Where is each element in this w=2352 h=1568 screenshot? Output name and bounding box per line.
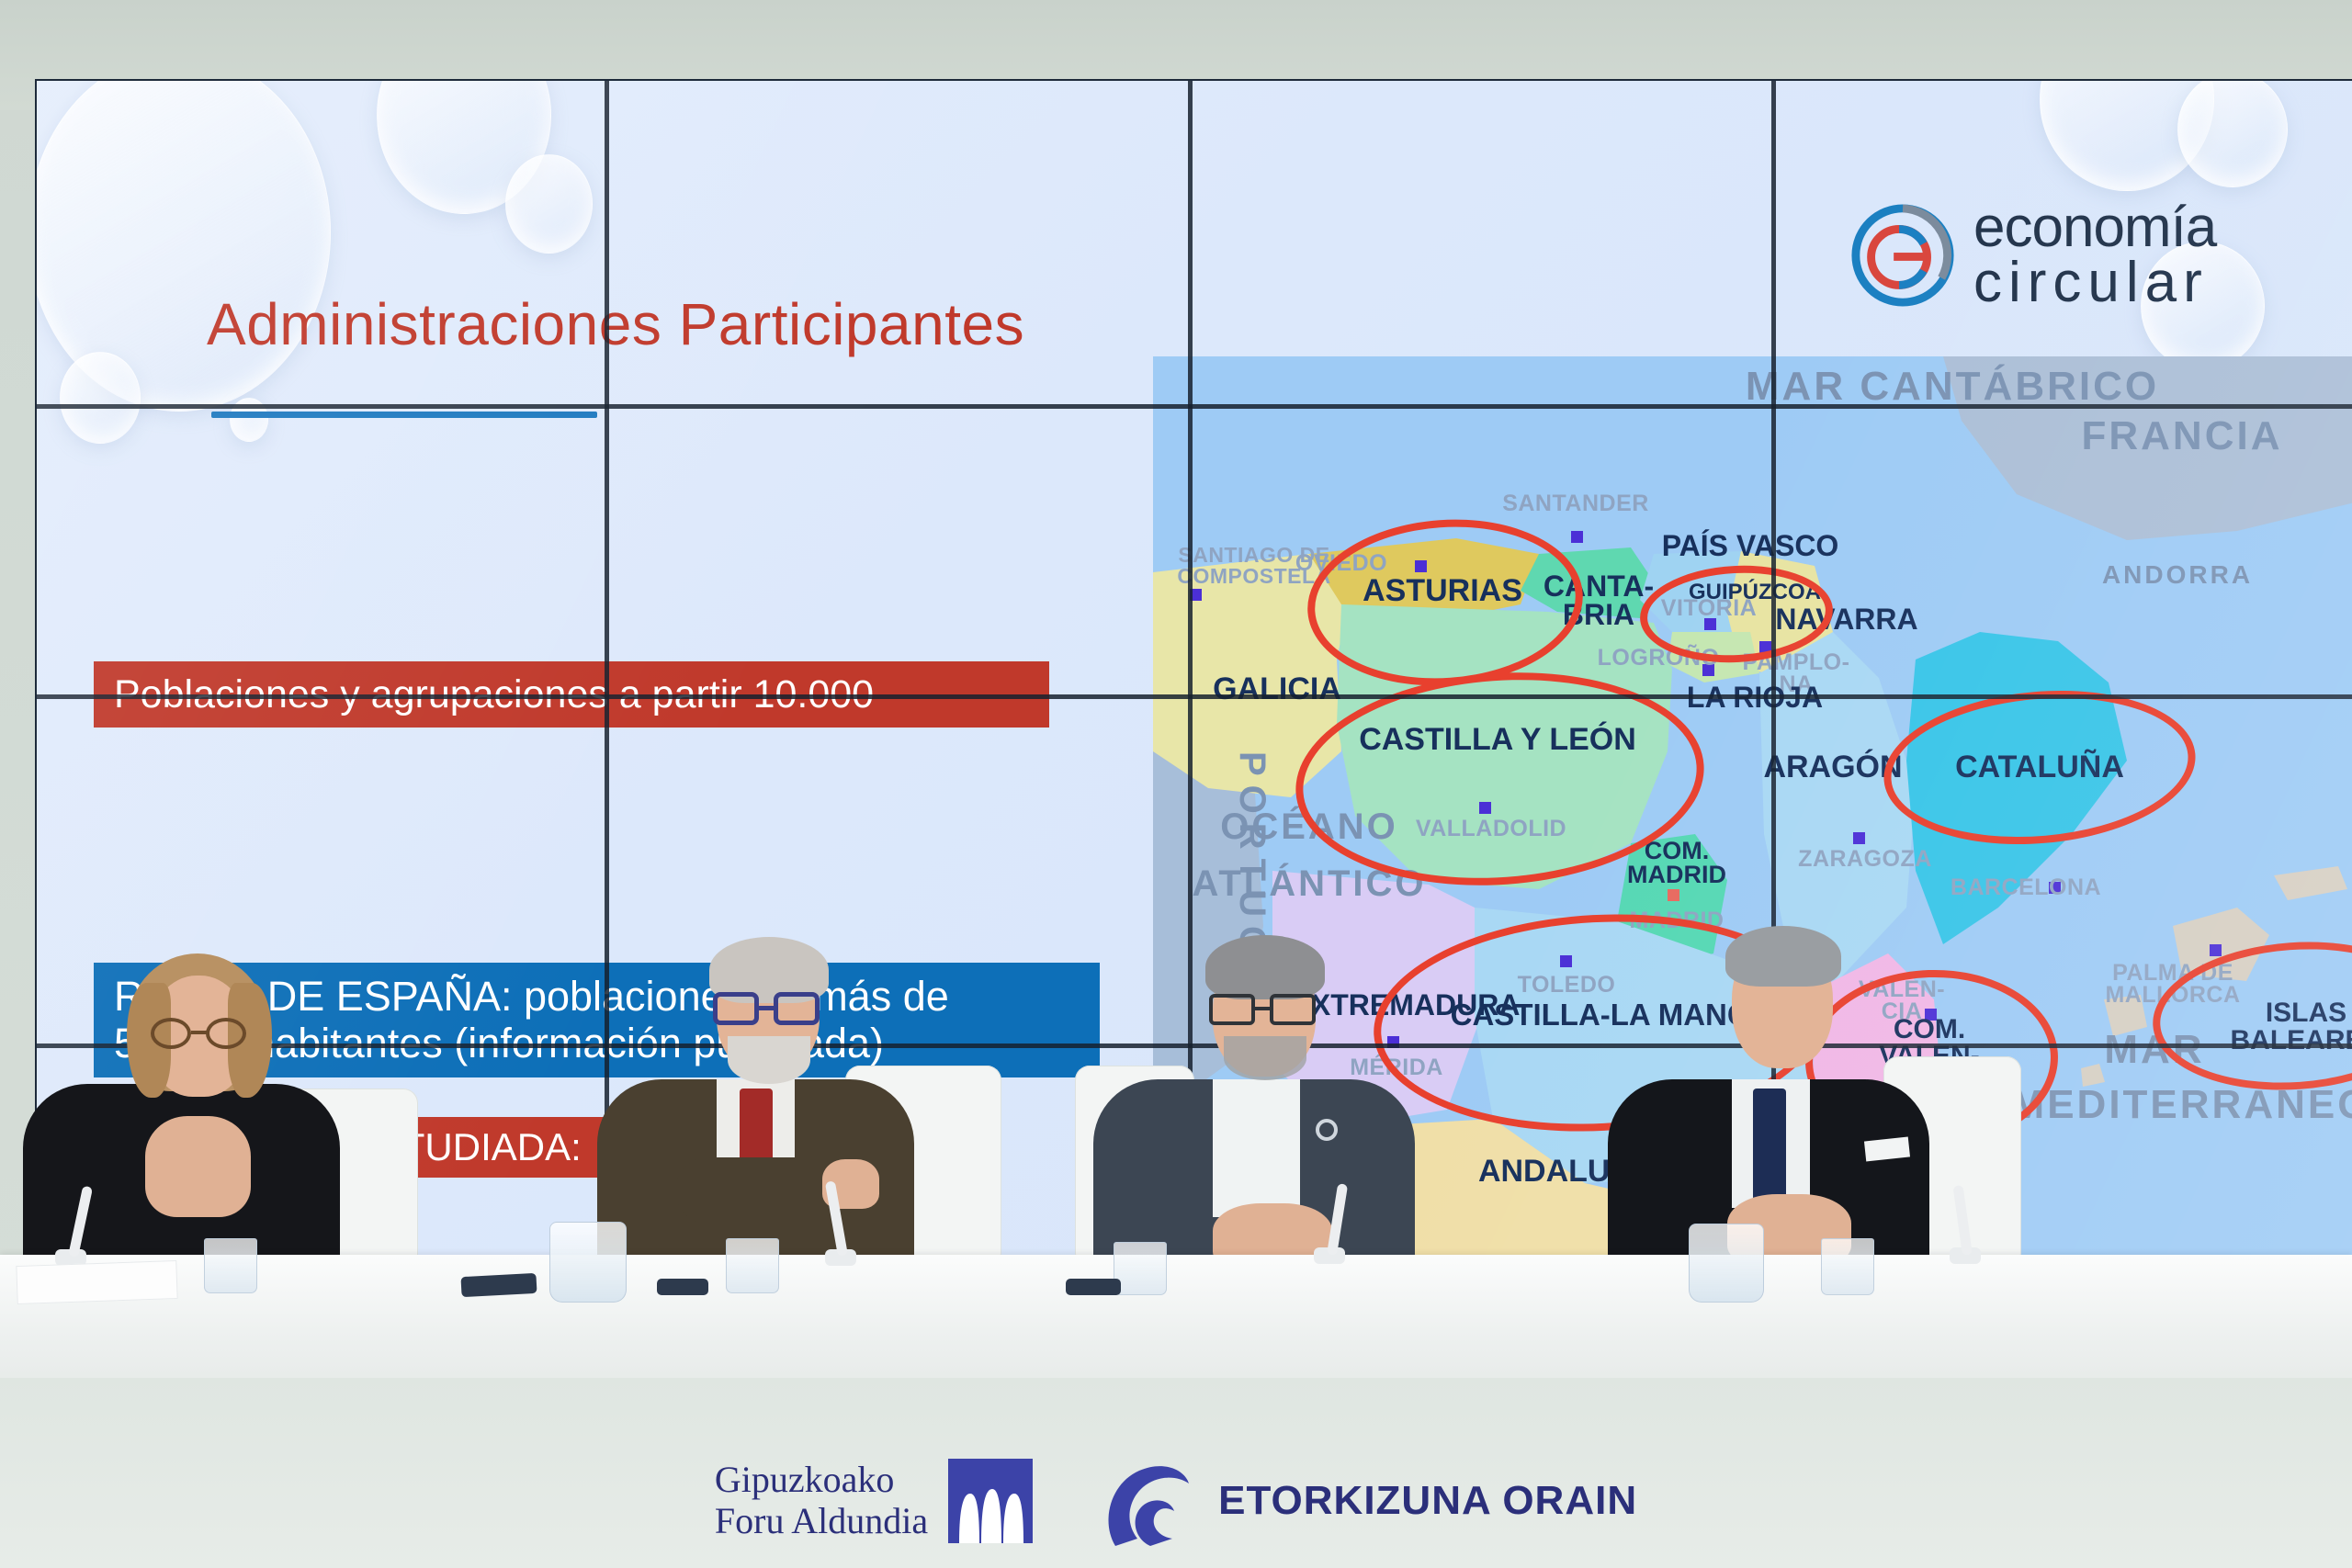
beard: [1224, 1036, 1306, 1080]
document: [16, 1260, 177, 1304]
footer-logos: Gipuzkoako Foru Aldundia ETORKIZUNA OR: [0, 1433, 2352, 1568]
city-dot-madrid: [1668, 889, 1679, 901]
bubble-decoration: [60, 352, 141, 444]
shirt: [1213, 1079, 1300, 1217]
economia-circular-logo: economía circular: [1849, 200, 2216, 310]
water-glass: [1114, 1242, 1167, 1295]
conference-room: Administraciones Participantes economía: [0, 0, 2352, 1568]
economia-circular-wordmark: economía circular: [1973, 200, 2216, 310]
beard: [728, 1036, 810, 1084]
page-title: Administraciones Participantes: [207, 290, 1024, 358]
city-label-zaragoza: ZARAGOZA: [1764, 848, 1966, 871]
region-label-pais-vasco: PAÍS VASCO: [1622, 531, 1879, 560]
logo-line-2: circular: [1973, 255, 2216, 310]
glasses: [149, 1018, 252, 1049]
sea-label-cantabrico: MAR CANTÁBRICO: [1668, 364, 2237, 410]
water-glass: [204, 1238, 257, 1293]
mobile-phone: [460, 1273, 537, 1297]
region-label-galicia: GALICIA: [1162, 673, 1392, 705]
panel-table: [0, 1255, 2352, 1393]
glasses: [713, 992, 825, 1025]
panelist-2: [588, 928, 983, 1286]
country-label-andorra: ANDORRA: [2067, 560, 2288, 590]
tie: [1753, 1089, 1786, 1206]
video-wall-bezel-horizontal: [37, 694, 2352, 699]
gipuzkoa-wordmark: Gipuzkoako Foru Aldundia: [715, 1460, 928, 1542]
gipuzkoa-logo: Gipuzkoako Foru Aldundia: [715, 1459, 1033, 1543]
logo-line-1: economía: [1973, 200, 2216, 255]
panelist-3: [1084, 928, 1470, 1286]
mobile-phone: [657, 1279, 708, 1295]
panelist-1: [9, 946, 395, 1286]
gipuzkoa-line-1: Gipuzkoako: [715, 1460, 928, 1501]
city-dot-santander: [1571, 531, 1583, 543]
hair: [1725, 926, 1841, 987]
city-label-santander: SANTANDER: [1465, 492, 1686, 515]
etorkizuna-wave-icon: [1097, 1450, 1198, 1551]
bubble-decoration: [505, 154, 593, 254]
video-wall-bezel-horizontal: [37, 404, 2352, 409]
gipuzkoa-crest-icon: [948, 1459, 1033, 1543]
glasses: [1209, 994, 1321, 1025]
water-jug: [549, 1222, 627, 1303]
gipuzkoa-line-2: Foru Aldundia: [715, 1501, 928, 1542]
city-dot-zaragoza: [1853, 832, 1865, 844]
water-glass: [1821, 1238, 1874, 1295]
sdg-pin-icon: [1316, 1119, 1338, 1141]
hair: [1205, 935, 1325, 999]
sea-label-francia: FRANCIA: [2007, 413, 2352, 459]
mobile-phone: [1066, 1279, 1121, 1295]
city-dot-palma: [2210, 944, 2222, 956]
panelist-4: [1599, 919, 1994, 1286]
hands: [145, 1116, 251, 1217]
circular-economy-icon: [1849, 201, 1957, 310]
bubble-decoration: [2177, 81, 2288, 187]
etorkizuna-orain-logo: ETORKIZUNA ORAIN: [1097, 1450, 1637, 1551]
water-jug: [1689, 1224, 1764, 1303]
etorkizuna-wordmark: ETORKIZUNA ORAIN: [1218, 1478, 1637, 1524]
title-underline: [211, 412, 597, 418]
city-label-barcelona: BARCELONA: [1929, 876, 2122, 899]
water-glass: [726, 1238, 779, 1293]
